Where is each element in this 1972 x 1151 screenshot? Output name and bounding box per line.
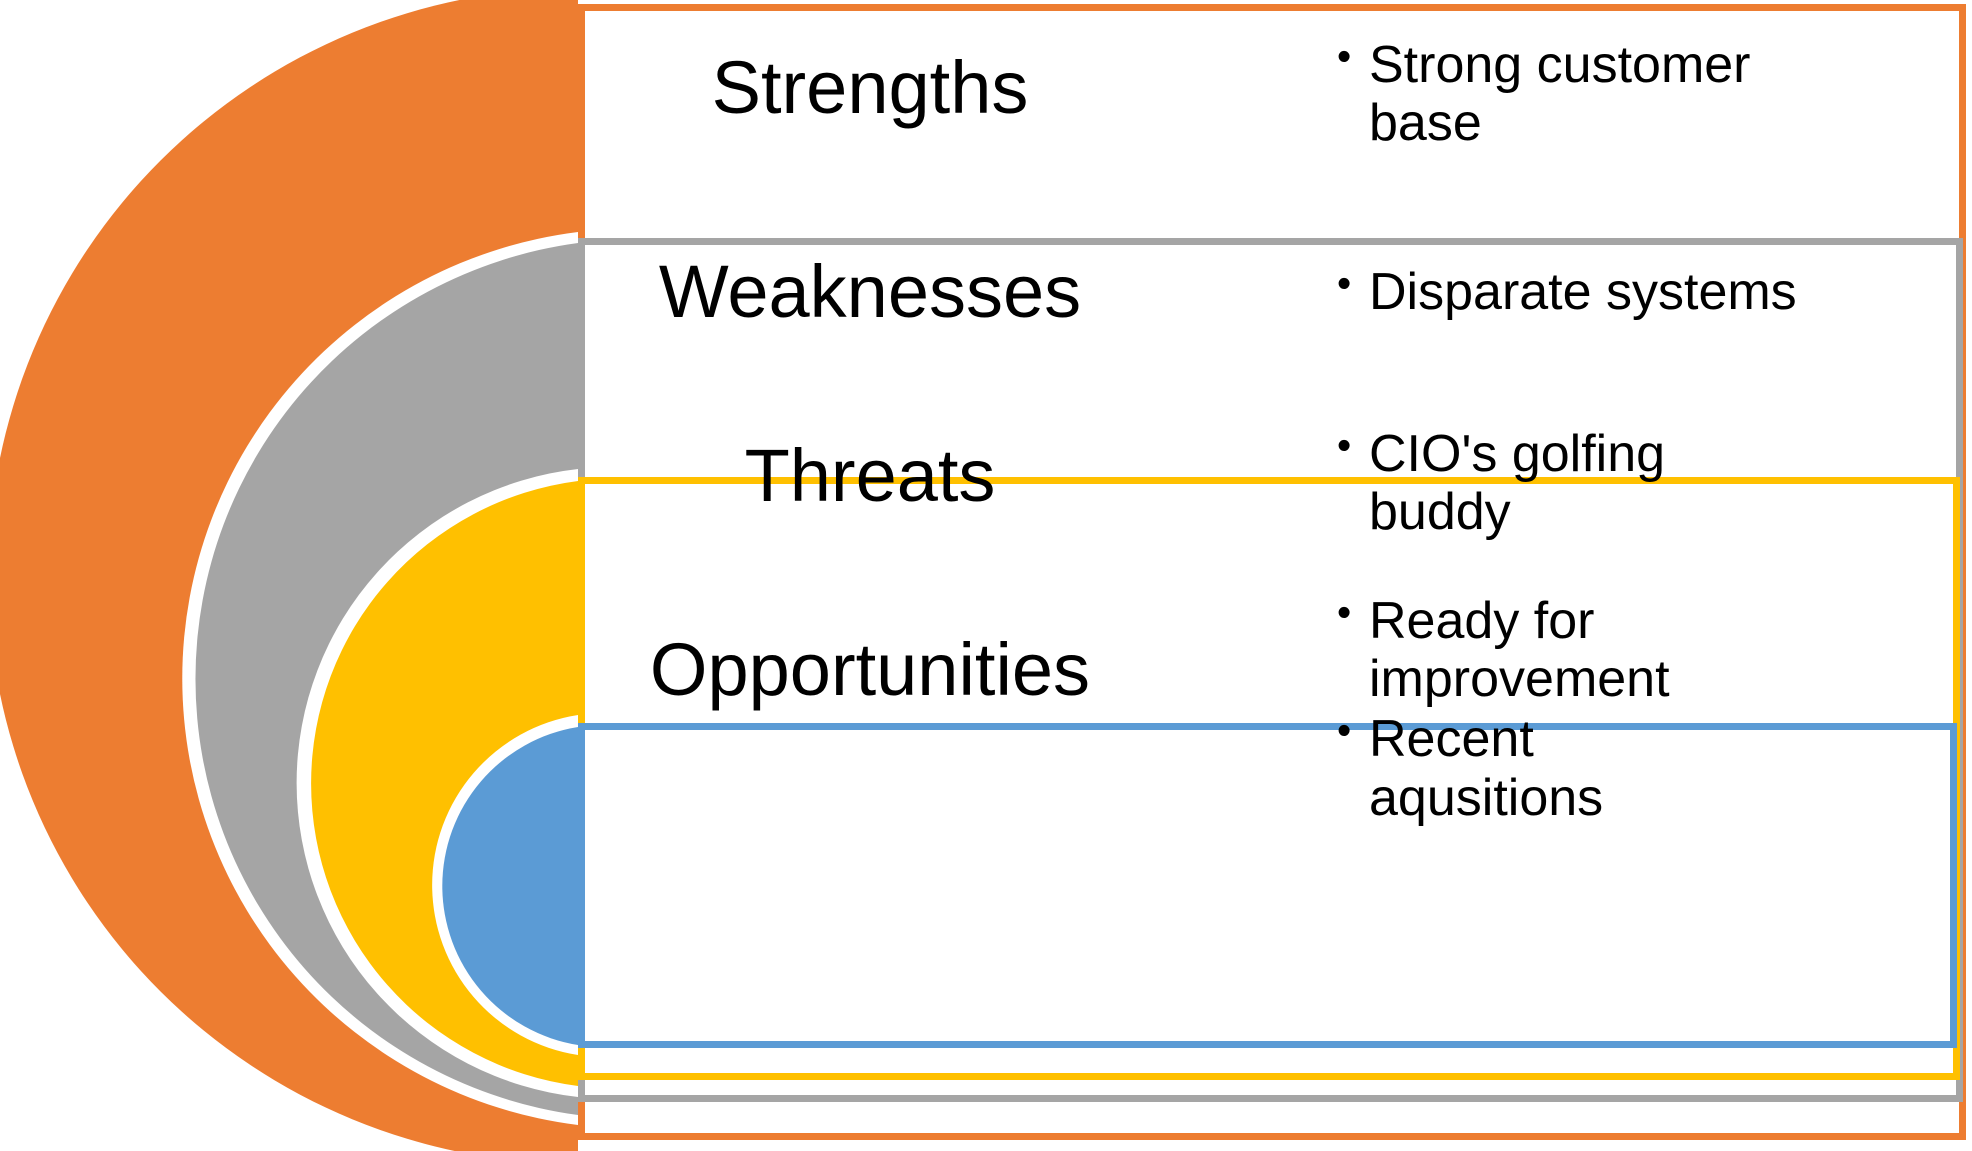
bullet-list-weaknesses: Disparate systems	[1335, 263, 1895, 321]
bullet-list-threats: CIO's golfing buddy	[1335, 425, 1755, 541]
row-label-threats: Threats	[600, 436, 1140, 516]
row-bullets-threats: CIO's golfing buddy	[1335, 425, 1755, 543]
bullet-item: Recent aqusitions	[1335, 710, 1765, 826]
bullet-list-strengths: Strong customer base	[1335, 36, 1815, 152]
row-label-opportunities: Opportunities	[590, 630, 1150, 710]
row-bullets-strengths: Strong customer base	[1335, 36, 1815, 154]
bullet-item: Disparate systems	[1335, 263, 1895, 321]
row-label-strengths: Strengths	[600, 48, 1140, 128]
bullet-item: CIO's golfing buddy	[1335, 425, 1755, 541]
swot-diagram-canvas: Strengths Strong customer base Weaknesse…	[0, 0, 1972, 1151]
bullet-item: Strong customer base	[1335, 36, 1815, 152]
row-bullets-opportunities: Ready for improvement Recent aqusitions	[1335, 592, 1765, 829]
bullet-list-opportunities: Ready for improvement Recent aqusitions	[1335, 592, 1765, 827]
row-bullets-weaknesses: Disparate systems	[1335, 263, 1895, 323]
bullet-item: Ready for improvement	[1335, 592, 1765, 708]
row-label-weaknesses: Weaknesses	[600, 252, 1140, 332]
